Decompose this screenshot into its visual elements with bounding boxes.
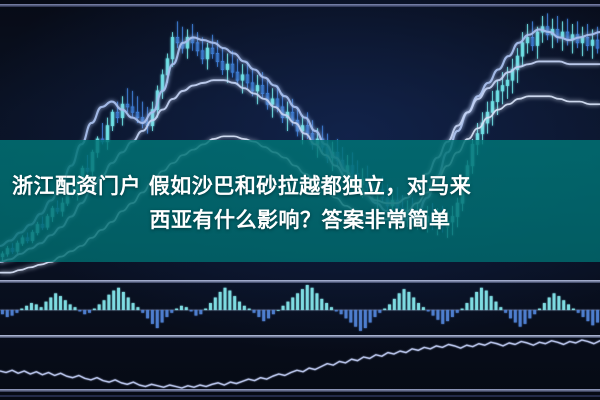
macd-histogram bbox=[0, 285, 600, 331]
bottom-edge-rule bbox=[0, 395, 600, 397]
histogram-top-rule bbox=[0, 280, 600, 283]
histogram-bottom-rule bbox=[0, 335, 600, 338]
chart-banner: 浙江配资门户 假如沙巴和砂拉越都独立，对马来 西亚有什么影响？答案非常简单 bbox=[0, 0, 600, 400]
teal-overlay-glow bbox=[0, 140, 600, 262]
oscillator-line bbox=[0, 340, 600, 388]
bottom-divider-rule bbox=[0, 389, 600, 392]
top-divider-rule bbox=[0, 4, 600, 7]
